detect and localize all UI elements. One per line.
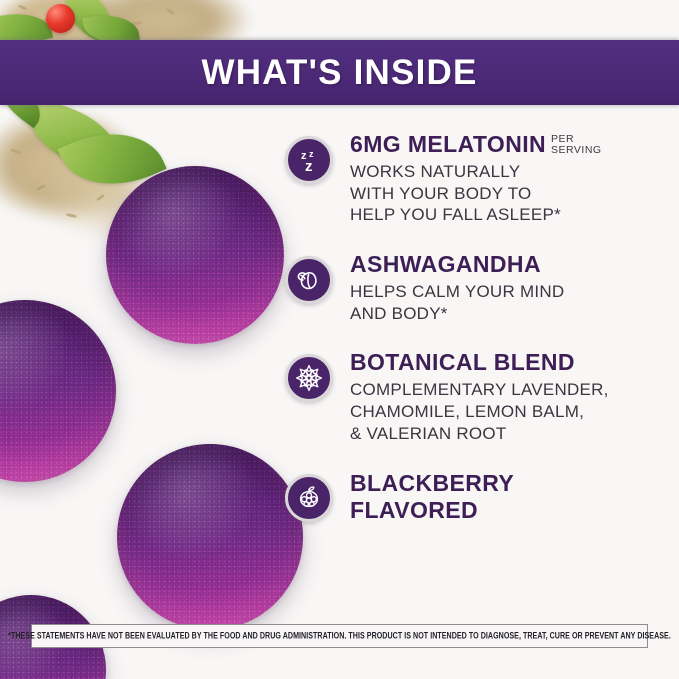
- per-serving-note: PER SERVING: [551, 134, 602, 157]
- leaf-icon: [54, 0, 124, 45]
- feature-body: HELPS CALM YOUR MIND AND BODY*: [350, 281, 679, 325]
- leaf-icon: [21, 99, 127, 174]
- feature-heading-text: BOTANICAL BLEND: [350, 350, 575, 376]
- header-banner: WHAT'S INSIDE: [0, 40, 679, 105]
- feature-heading: 6MG MELATONIN PER SERVING: [350, 132, 679, 158]
- powder-speck: [44, 17, 55, 23]
- botanical-flower-icon: [285, 354, 333, 402]
- powder-speck: [10, 148, 22, 155]
- powder-speck: [96, 1, 106, 10]
- feature-item-botanical-blend: BOTANICAL BLEND COMPLEMENTARY LAVENDER, …: [285, 350, 679, 444]
- disclaimer-box: *THESE STATEMENTS HAVE NOT BEEN EVALUATE…: [31, 624, 648, 648]
- zzz-sleep-icon: z z z: [285, 136, 333, 184]
- feature-body: WORKS NATURALLY WITH YOUR BODY TO HELP Y…: [350, 161, 679, 226]
- root-powder-icon: [0, 110, 140, 220]
- feature-item-blackberry: BLACKBERRY FLAVORED: [285, 470, 679, 524]
- page-title: WHAT'S INSIDE: [201, 53, 477, 93]
- disclaimer-text: *THESE STATEMENTS HAVE NOT BEEN EVALUATE…: [8, 631, 671, 642]
- powder-speck: [166, 8, 175, 15]
- red-berry-icon: [46, 4, 75, 33]
- feature-item-melatonin: z z z 6MG MELATONIN PER SERVING WORKS NA…: [285, 132, 679, 226]
- feature-heading: ASHWAGANDHA: [350, 252, 679, 278]
- gummy-sphere: [106, 166, 284, 344]
- svg-text:z: z: [305, 158, 313, 175]
- gummy-sphere: [117, 444, 303, 630]
- powder-speck: [96, 194, 105, 202]
- feature-body: COMPLEMENTARY LAVENDER, CHAMOMILE, LEMON…: [350, 379, 679, 444]
- feature-heading: BOTANICAL BLEND: [350, 350, 679, 376]
- powder-speck: [130, 21, 142, 26]
- feature-heading-text: ASHWAGANDHA: [350, 252, 541, 278]
- ashwagandha-leaf-icon: [285, 256, 333, 304]
- feature-item-ashwagandha: ASHWAGANDHA HELPS CALM YOUR MIND AND BOD…: [285, 252, 679, 324]
- powder-speck: [66, 213, 77, 218]
- feature-list: z z z 6MG MELATONIN PER SERVING WORKS NA…: [285, 132, 679, 551]
- powder-speck: [36, 184, 46, 191]
- gummy-sphere: [0, 300, 116, 482]
- powder-speck: [18, 4, 27, 10]
- blackberry-icon: [285, 474, 333, 522]
- feature-heading-text: 6MG MELATONIN: [350, 132, 546, 158]
- feature-heading: BLACKBERRY FLAVORED: [350, 470, 679, 524]
- product-infographic: WHAT'S INSIDE z z z 6MG MELATONIN PER SE…: [0, 0, 679, 679]
